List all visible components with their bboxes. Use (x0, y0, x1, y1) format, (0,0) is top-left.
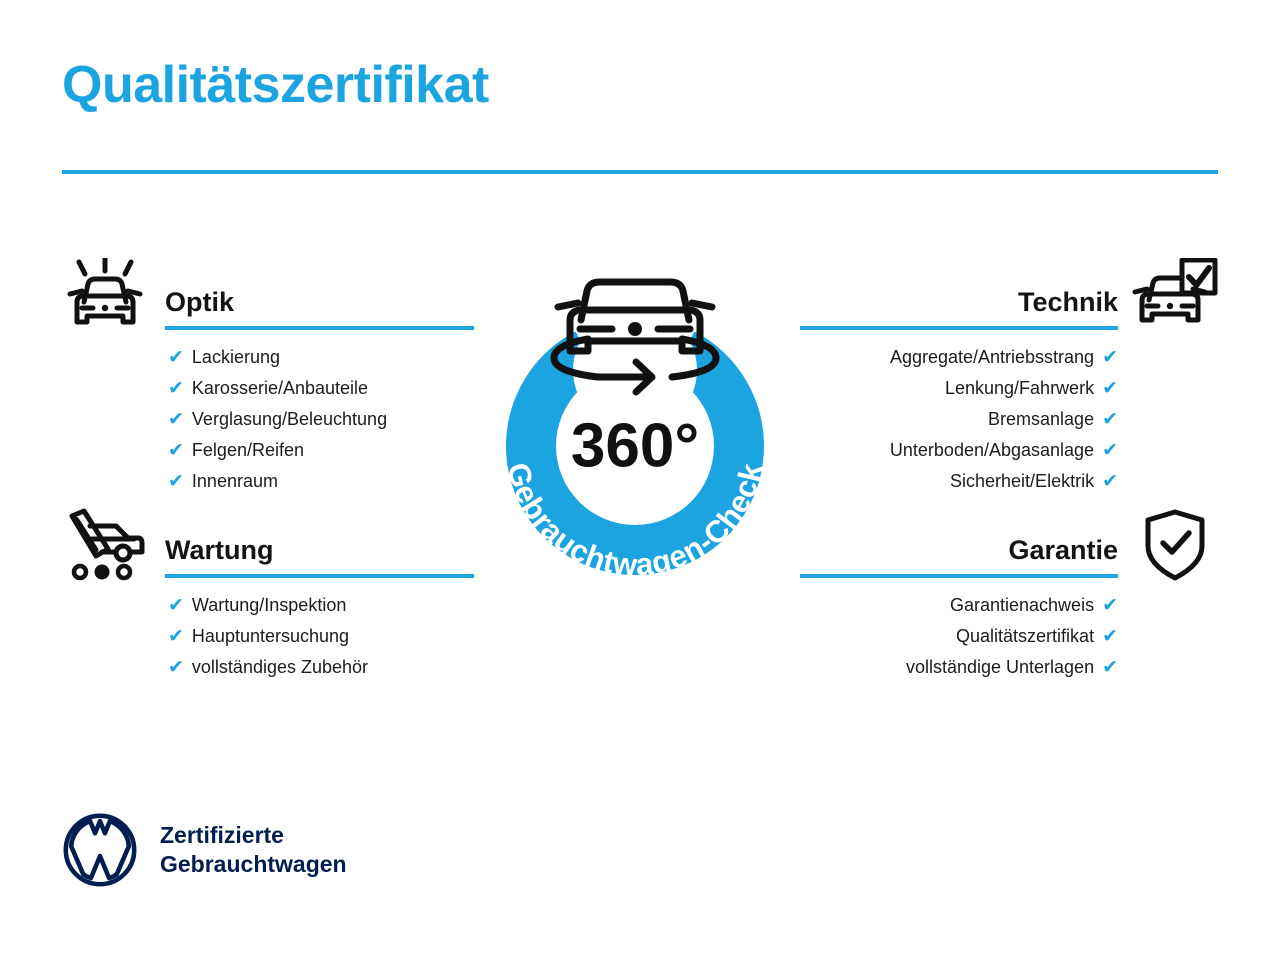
car-front-checkbox-icon (1132, 258, 1218, 336)
list-item: Garantienachweis✔ (800, 590, 1118, 621)
list-item: ✔Lackierung (168, 342, 474, 373)
list-item: ✔Karosserie/Anbauteile (168, 373, 474, 404)
list-item-label: vollständige Unterlagen (906, 652, 1094, 682)
list-item-label: Verglasung/Beleuchtung (192, 404, 387, 434)
badge-360-gebrauchtwagen-check: Gebrauchtwagen-Check 360° (460, 250, 810, 610)
vw-logo-icon (62, 812, 138, 888)
header-divider (62, 170, 1218, 174)
section-wartung-list: ✔Wartung/Inspektion ✔Hauptuntersuchung ✔… (62, 590, 474, 683)
section-wartung: Wartung ✔Wartung/Inspektion ✔Hauptunters… (62, 506, 474, 683)
section-garantie: Garantie Garantienachweis✔ Qualitätszert… (800, 506, 1218, 683)
section-wartung-divider (165, 574, 474, 578)
list-item: ✔vollständiges Zubehör (168, 652, 474, 683)
list-item: Bremsanlage✔ (800, 404, 1118, 435)
check-icon: ✔ (168, 405, 184, 435)
car-front-shine-icon (62, 258, 148, 336)
list-item-label: Aggregate/Antriebsstrang (890, 342, 1094, 372)
list-item-label: Unterboden/Abgasanlage (890, 435, 1094, 465)
check-icon: ✔ (1102, 374, 1118, 404)
section-wartung-title: Wartung (165, 537, 273, 564)
list-item-label: Wartung/Inspektion (192, 590, 346, 620)
section-technik-list: Aggregate/Antriebsstrang✔ Lenkung/Fahrwe… (800, 342, 1218, 497)
section-technik-header: Technik (800, 258, 1218, 342)
check-icon: ✔ (168, 622, 184, 652)
section-wartung-header: Wartung (62, 506, 474, 590)
list-item-label: Hauptuntersuchung (192, 621, 349, 651)
section-optik-header: Optik (62, 258, 474, 342)
check-icon: ✔ (1102, 653, 1118, 683)
list-item-label: Qualitätszertifikat (956, 621, 1094, 651)
section-technik-divider (800, 326, 1118, 330)
list-item-label: Innenraum (192, 466, 278, 496)
check-icon: ✔ (1102, 405, 1118, 435)
section-garantie-header: Garantie (800, 506, 1218, 590)
list-item: Aggregate/Antriebsstrang✔ (800, 342, 1118, 373)
check-icon: ✔ (1102, 622, 1118, 652)
list-item: Qualitätszertifikat✔ (800, 621, 1118, 652)
check-icon: ✔ (168, 343, 184, 373)
shield-check-icon (1132, 506, 1218, 584)
car-service-tool-icon (62, 506, 148, 584)
check-icon: ✔ (168, 467, 184, 497)
footer-logo: Zertifizierte Gebrauchtwagen (62, 812, 347, 888)
list-item-label: Garantienachweis (950, 590, 1094, 620)
section-optik-title: Optik (165, 289, 234, 316)
list-item-label: Bremsanlage (988, 404, 1094, 434)
list-item-label: vollständiges Zubehör (192, 652, 368, 682)
footer-logo-line2: Gebrauchtwagen (160, 851, 347, 877)
list-item: Unterboden/Abgasanlage✔ (800, 435, 1118, 466)
section-garantie-list: Garantienachweis✔ Qualitätszertifikat✔ v… (800, 590, 1218, 683)
list-item-label: Karosserie/Anbauteile (192, 373, 368, 403)
section-garantie-divider (800, 574, 1118, 578)
list-item: ✔Wartung/Inspektion (168, 590, 474, 621)
section-optik-divider (165, 326, 474, 330)
section-garantie-title: Garantie (1008, 537, 1118, 564)
check-icon: ✔ (168, 436, 184, 466)
list-item: Sicherheit/Elektrik✔ (800, 466, 1118, 497)
list-item-label: Lackierung (192, 342, 280, 372)
list-item: ✔Innenraum (168, 466, 474, 497)
list-item: ✔Verglasung/Beleuchtung (168, 404, 474, 435)
section-optik-list: ✔Lackierung ✔Karosserie/Anbauteile ✔Verg… (62, 342, 474, 497)
footer-logo-line1: Zertifizierte (160, 822, 284, 848)
badge-center-text: 360° (571, 412, 699, 481)
list-item-label: Felgen/Reifen (192, 435, 304, 465)
section-technik-title: Technik (1018, 289, 1118, 316)
check-icon: ✔ (1102, 591, 1118, 621)
list-item: vollständige Unterlagen✔ (800, 652, 1118, 683)
footer-logo-text: Zertifizierte Gebrauchtwagen (160, 821, 347, 879)
section-technik: Technik Aggregate/Antriebsstrang✔ Lenkun… (800, 258, 1218, 497)
check-icon: ✔ (168, 374, 184, 404)
list-item: Lenkung/Fahrwerk✔ (800, 373, 1118, 404)
check-icon: ✔ (168, 591, 184, 621)
list-item-label: Sicherheit/Elektrik (950, 466, 1094, 496)
page-title: Qualitätszertifikat (62, 57, 489, 114)
check-icon: ✔ (168, 653, 184, 683)
check-icon: ✔ (1102, 436, 1118, 466)
list-item: ✔Felgen/Reifen (168, 435, 474, 466)
check-icon: ✔ (1102, 467, 1118, 497)
list-item-label: Lenkung/Fahrwerk (945, 373, 1094, 403)
check-icon: ✔ (1102, 343, 1118, 373)
section-optik: Optik ✔Lackierung ✔Karosserie/Anbauteile… (62, 258, 474, 497)
certificate-page: Qualitätszertifikat (0, 0, 1280, 960)
list-item: ✔Hauptuntersuchung (168, 621, 474, 652)
